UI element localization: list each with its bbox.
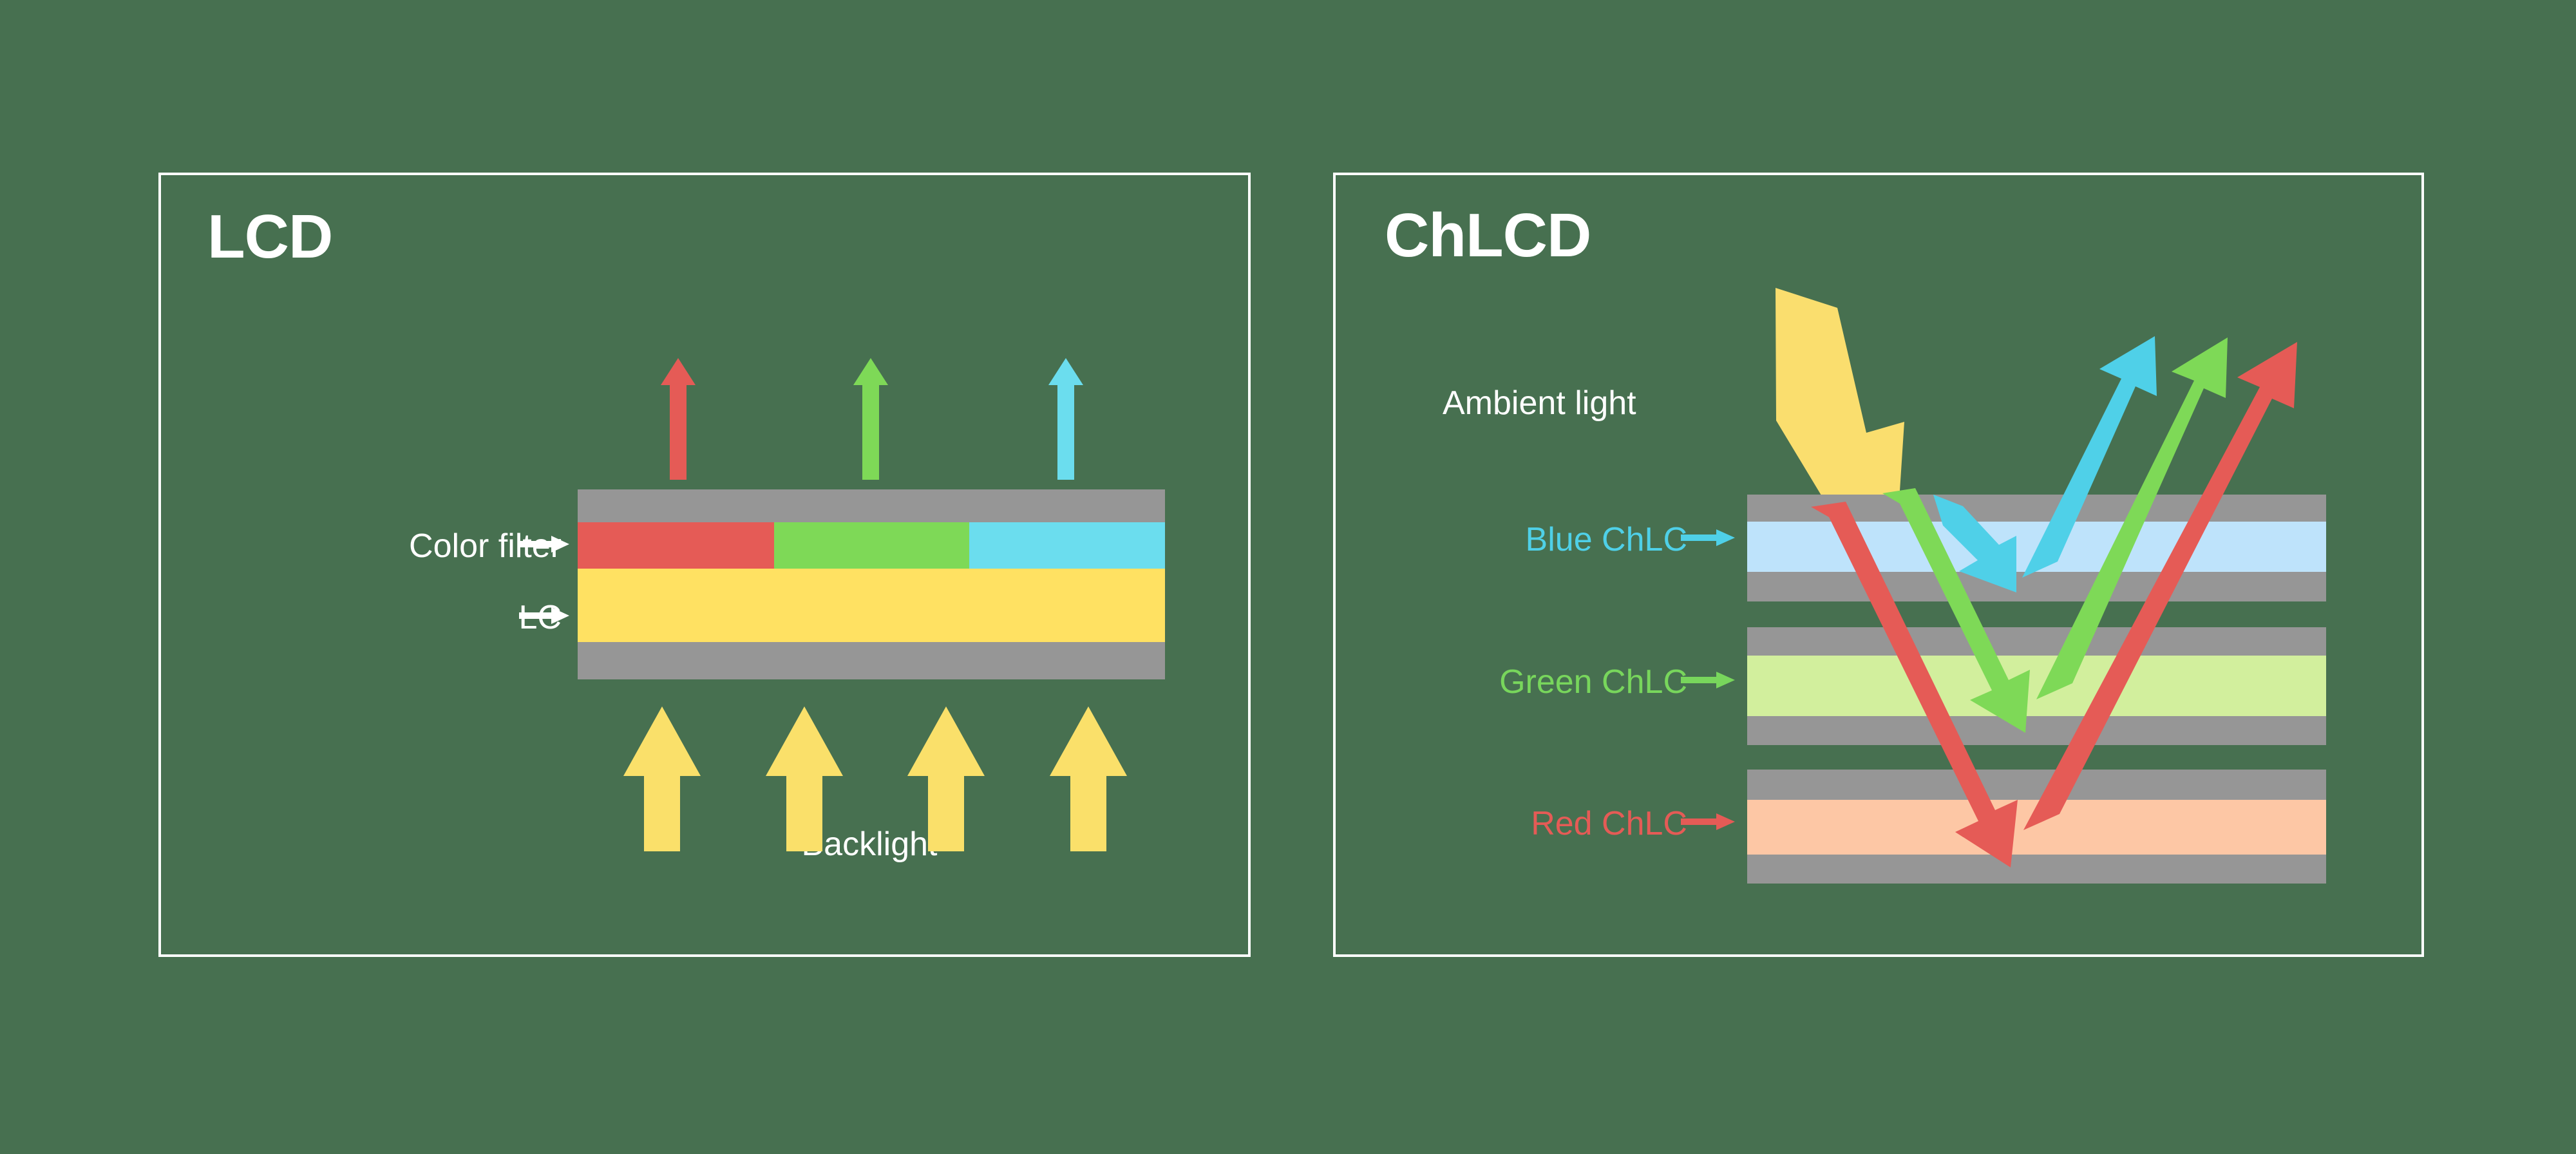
label-lc: LC (259, 601, 562, 634)
label-backlight: Backlight (663, 828, 1075, 861)
label-blue-chlc: Blue ChLC (1385, 523, 1687, 556)
label-color-filter: Color filter (259, 529, 562, 563)
label-green-chlc: Green ChLC (1385, 665, 1687, 699)
diagram-canvas: LCD Color filter LC Backlight ChLCD Ambi… (0, 0, 2576, 1154)
panel-title-chlcd: ChLCD (1385, 205, 1591, 267)
panel-title-lcd: LCD (207, 206, 332, 268)
label-ambient-light: Ambient light (1443, 386, 1765, 420)
label-red-chlc: Red ChLC (1385, 807, 1687, 840)
